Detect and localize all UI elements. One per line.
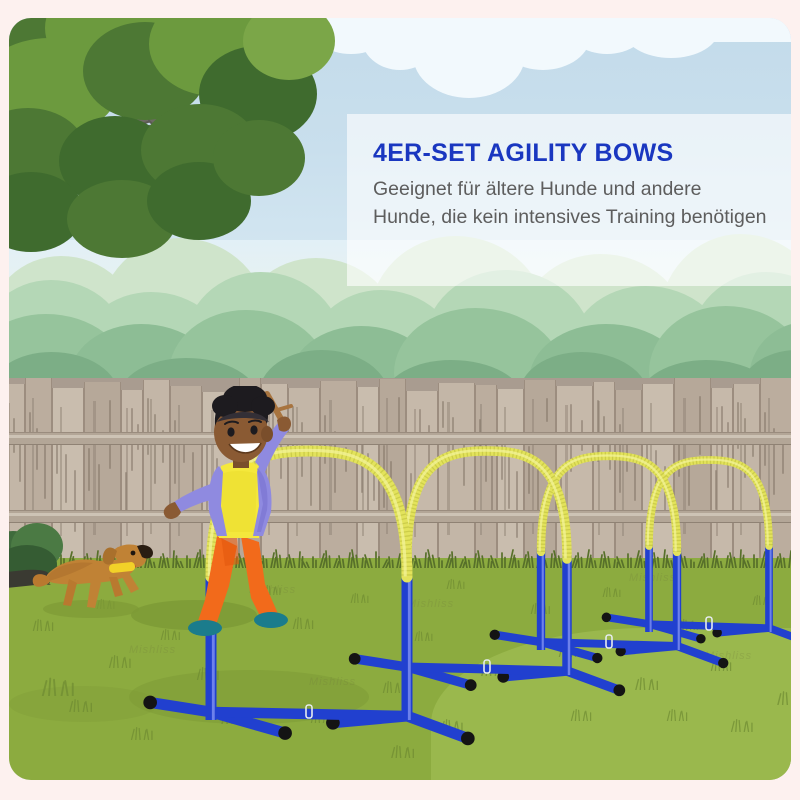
hurdle-foot-cap — [613, 684, 625, 696]
hurdle-pole — [673, 548, 681, 650]
foreground-tree — [9, 18, 329, 262]
dog-illustration — [29, 513, 159, 623]
hurdle-foot-cap — [278, 726, 292, 740]
hurdle-foot-bar — [150, 702, 211, 712]
hurdle-foot-cap — [461, 732, 475, 746]
hurdle-base-spine — [211, 712, 407, 716]
hurdle-foot-cap — [143, 696, 157, 710]
grass-tuft — [39, 676, 77, 696]
page-title: 4ER-SET AGILITY BOWS — [373, 140, 769, 166]
wood-grain — [44, 444, 46, 499]
hurdle-foot-bar — [407, 716, 468, 738]
wood-grain — [88, 448, 90, 491]
wood-grain — [546, 398, 548, 422]
wood-grain — [442, 401, 444, 428]
wood-grain — [398, 397, 400, 436]
product-image-canvas: MishlissMishlissMishlissMishlissMishliss… — [0, 0, 800, 800]
wood-grain — [65, 454, 67, 503]
person-illustration — [159, 386, 329, 636]
hurdle-foot-cap — [718, 658, 728, 668]
hurdle-foot-bar — [567, 671, 619, 690]
scene-illustration: MishlissMishlissMishlissMishlissMishliss… — [9, 18, 791, 780]
page-subtitle: Geeignet für ältere Hunde und andere Hun… — [373, 176, 769, 231]
hurdle-pole — [562, 555, 571, 675]
hurdle-foot-bar — [677, 646, 723, 663]
grass-tuft — [67, 698, 94, 712]
hurdle-pole — [402, 573, 413, 720]
text-panel: 4ER-SET AGILITY BOWS Geeignet für ältere… — [347, 114, 791, 286]
